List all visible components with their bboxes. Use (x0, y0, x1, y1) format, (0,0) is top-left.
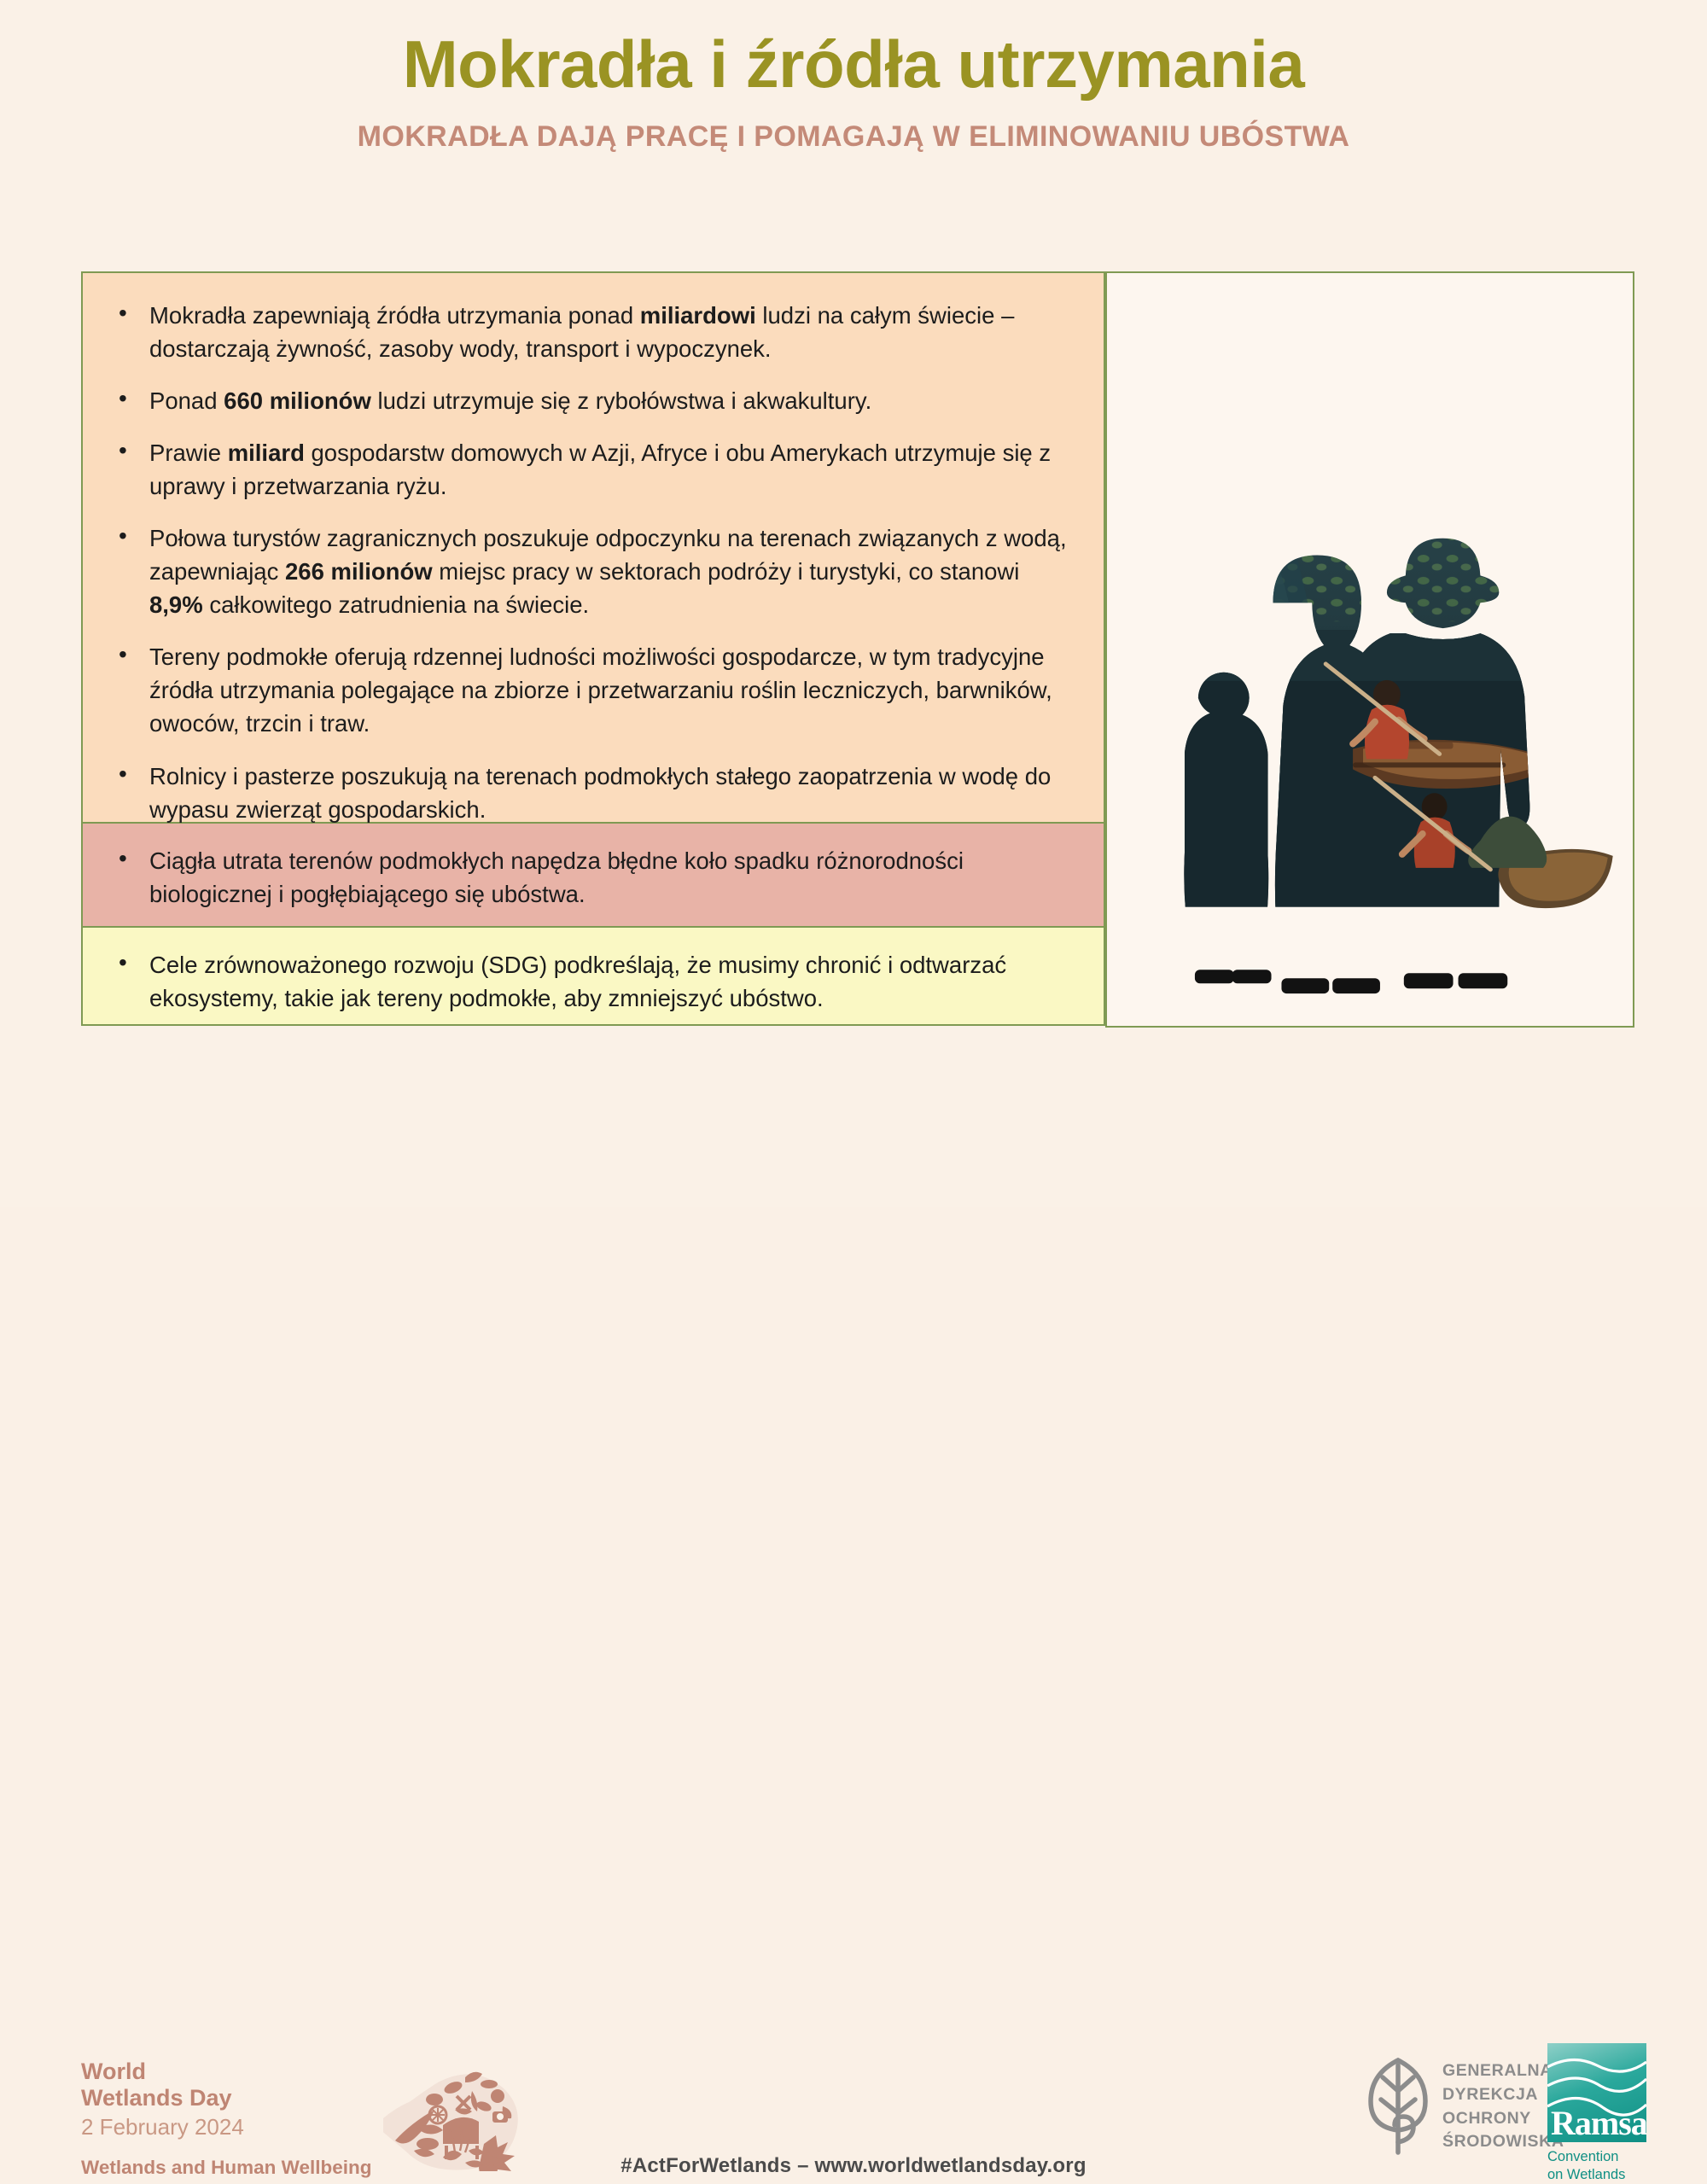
bullet-item: Rolnicy i pasterze poszukują na terenach… (114, 760, 1071, 826)
gdos-line-3: OCHRONY (1442, 2107, 1564, 2131)
ramsar-caption: Convention on Wetlands (1547, 2148, 1646, 2184)
ramsar-caption-line-1: Convention (1547, 2148, 1646, 2166)
family-silhouette-illustration (1107, 273, 1633, 1026)
panel-wetland-loss-warning: Ciągła utrata terenów podmokłych napędza… (81, 823, 1105, 927)
poster-footer: World Wetlands Day 2 February 2024 Wetla… (0, 1019, 1707, 1207)
bullet-highlight: 8,9% (149, 591, 203, 618)
bullet-text: Prawie (149, 440, 228, 466)
bullet-text: Ponad (149, 387, 224, 414)
bullet-text: miejsc pracy w sektorach podróży i turys… (433, 558, 1020, 585)
content-area: Mokradła zapewniają źródła utrzymania po… (81, 271, 1634, 1014)
ramsar-wordmark: Ramsar (1551, 2106, 1646, 2140)
bullet-text: ludzi utrzymuje się z rybołówstwa i akwa… (371, 387, 871, 414)
gdos-line-2: DYREKCJA (1442, 2083, 1564, 2107)
panel-livelihood-facts: Mokradła zapewniają źródła utrzymania po… (81, 271, 1105, 823)
bullet-text: Mokradła zapewniają źródła utrzymania po… (149, 302, 640, 329)
page-subtitle: MOKRADŁA DAJĄ PRACĘ I POMAGAJĄ W ELIMINO… (0, 121, 1707, 153)
ramsar-caption-line-2: on Wetlands (1547, 2166, 1646, 2184)
bullet-highlight: miliardowi (640, 302, 756, 329)
bullet-item: Ponad 660 milionów ludzi utrzymuje się z… (114, 384, 1071, 417)
bullet-text: Ciągła utrata terenów podmokłych napędza… (149, 847, 964, 907)
bullet-item: Ciągła utrata terenów podmokłych napędza… (114, 844, 1071, 911)
bullet-item: Prawie miliard gospodarstw domowych w Az… (114, 436, 1071, 503)
bullet-item: Tereny podmokłe oferują rdzennej ludnośc… (114, 640, 1071, 740)
wetland-family-photo-panel (1105, 271, 1634, 1028)
gdos-line-1: GENERALNA (1442, 2059, 1564, 2083)
bullet-text: Tereny podmokłe oferują rdzennej ludnośc… (149, 644, 1052, 737)
poster-root: Mokradła i źródła utrzymania MOKRADŁA DA… (0, 0, 1707, 1207)
bullet-highlight: miliard (228, 440, 305, 466)
bullet-highlight: 660 milionów (224, 387, 371, 414)
gdos-logo-text: GENERALNA DYREKCJA OCHRONY ŚRODOWISKA (1442, 2059, 1564, 2154)
bullet-item: Mokradła zapewniają źródła utrzymania po… (114, 299, 1071, 365)
bullet-item: Cele zrównoważonego rozwoju (SDG) podkre… (114, 948, 1071, 1015)
bullet-highlight: 266 milionów (285, 558, 433, 585)
wwd-line-1: World (81, 2059, 371, 2085)
wwd-line-2: Wetlands Day (81, 2085, 371, 2111)
wwd-date: 2 February 2024 (81, 2111, 371, 2144)
bullet-list-yellow: Cele zrównoważonego rozwoju (SDG) podkre… (114, 948, 1071, 1015)
page-title: Mokradła i źródła utrzymania (0, 31, 1707, 97)
ramsar-emblem-icon: Ramsar (1547, 2043, 1646, 2142)
poster-header: Mokradła i źródła utrzymania MOKRADŁA DA… (0, 31, 1707, 153)
facts-column: Mokradła zapewniają źródła utrzymania po… (81, 271, 1105, 1014)
gdos-line-4: ŚRODOWISKA (1442, 2130, 1564, 2154)
ramsar-logo: Ramsar Convention on Wetlands (1547, 2043, 1646, 2184)
panel-sdg-note: Cele zrównoważonego rozwoju (SDG) podkre… (81, 927, 1105, 1026)
gdos-logo: GENERALNA DYREKCJA OCHRONY ŚRODOWISKA (1366, 2050, 1564, 2164)
bullet-list-peach: Mokradła zapewniają źródła utrzymania po… (114, 299, 1071, 826)
bullet-text: całkowitego zatrudnienia na świecie. (203, 591, 589, 618)
gdos-leaf-icon (1366, 2050, 1430, 2164)
bullet-text: Cele zrównoważonego rozwoju (SDG) podkre… (149, 952, 1006, 1011)
bullet-text: Rolnicy i pasterze poszukują na terenach… (149, 763, 1051, 823)
image-column (1105, 271, 1634, 1014)
bullet-item: Połowa turystów zagranicznych poszukuje … (114, 521, 1071, 621)
bullet-list-pink: Ciągła utrata terenów podmokłych napędza… (114, 844, 1071, 911)
